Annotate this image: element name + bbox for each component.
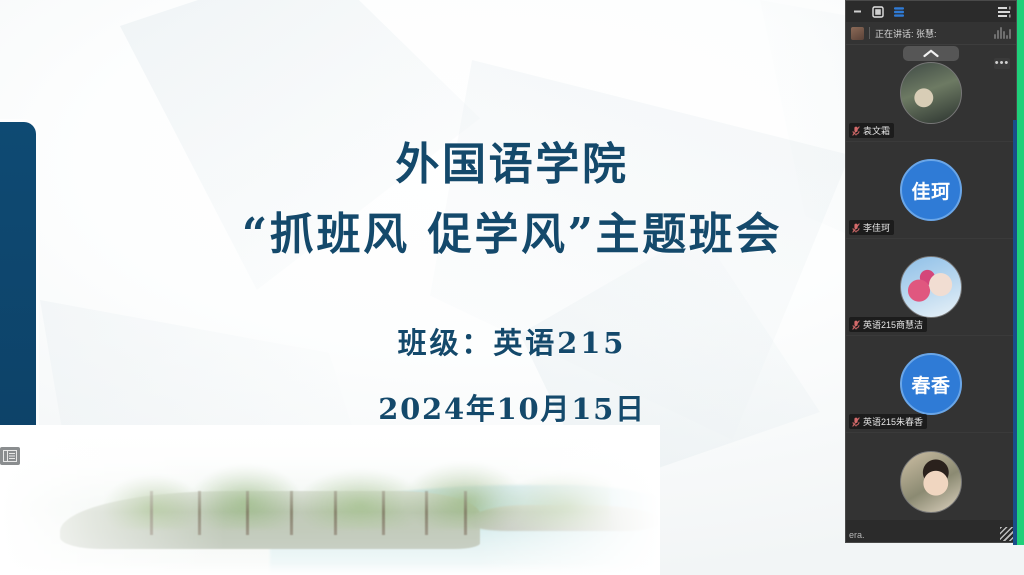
video-meeting-panel: 正在讲话: 张慧: ••• (845, 0, 1017, 543)
participant-name: 英语215朱春香 (863, 415, 923, 428)
campus-landscape-photo (0, 425, 660, 575)
minimize-icon (852, 6, 863, 17)
layers-icon (893, 6, 905, 18)
watermark-label: era. (849, 530, 865, 540)
mic-muted-icon (852, 126, 860, 136)
mic-muted-icon (852, 417, 860, 427)
restore-button[interactable] (871, 5, 885, 19)
layout-list-icon (998, 6, 1012, 18)
participant-name-tag: 英语215朱春香 (849, 414, 927, 429)
avatar (900, 62, 962, 124)
mic-muted-icon (852, 223, 860, 233)
participant-tile[interactable]: 佳珂 李佳珂 (846, 142, 1016, 239)
resize-grip-icon[interactable] (1000, 527, 1014, 541)
screen-share-border (1017, 0, 1024, 545)
screen-root: 外国语学院 “抓班风 促学风”主题班会 班级：英语215 2024年10月15日 (0, 0, 1024, 575)
more-options-button[interactable]: ••• (994, 58, 1010, 69)
layout-view-button[interactable] (998, 5, 1012, 19)
active-speaker-bar: 正在讲话: 张慧: (846, 22, 1016, 45)
landscape-fade-mask (0, 425, 660, 575)
avatar-initials: 春香 (911, 371, 950, 398)
avatar (900, 451, 962, 513)
divider (869, 27, 870, 39)
participant-name: 袁文霜 (863, 124, 890, 137)
speaker-avatar-icon (851, 27, 864, 40)
avatar: 春香 (900, 353, 962, 415)
meeting-footer: era. (846, 520, 1016, 542)
avatar-initials: 佳珂 (911, 177, 950, 204)
avatar (900, 256, 962, 318)
active-speaker-label: 正在讲话: 张慧: (875, 27, 937, 40)
panel-toggle-button[interactable] (0, 447, 20, 465)
participant-name-tag: 英语215商慧洁 (849, 317, 927, 332)
participant-name: 英语215商慧洁 (863, 318, 923, 331)
participant-name: 李佳珂 (863, 221, 890, 234)
participant-name-tag: 李佳珂 (849, 220, 894, 235)
meeting-titlebar (846, 1, 1016, 22)
list-panel-icon (3, 450, 17, 462)
minimize-button[interactable] (850, 5, 864, 19)
layers-button[interactable] (892, 5, 906, 19)
scroll-up-button[interactable] (903, 46, 959, 61)
participant-tile-list[interactable]: ••• 袁文霜 佳珂 (846, 45, 1016, 520)
participant-name-tag: 袁文霜 (849, 123, 894, 138)
participant-tile[interactable]: 春香 英语215朱春香 (846, 336, 1016, 433)
chevron-up-icon (923, 49, 939, 58)
mic-muted-icon (852, 320, 860, 330)
audio-wave-icon (994, 27, 1011, 39)
panel-right-accent (1013, 120, 1017, 545)
restore-icon (872, 6, 884, 18)
participant-tile[interactable] (846, 433, 1016, 520)
participant-tile[interactable]: 英语215商慧洁 (846, 239, 1016, 336)
avatar: 佳珂 (900, 159, 962, 221)
